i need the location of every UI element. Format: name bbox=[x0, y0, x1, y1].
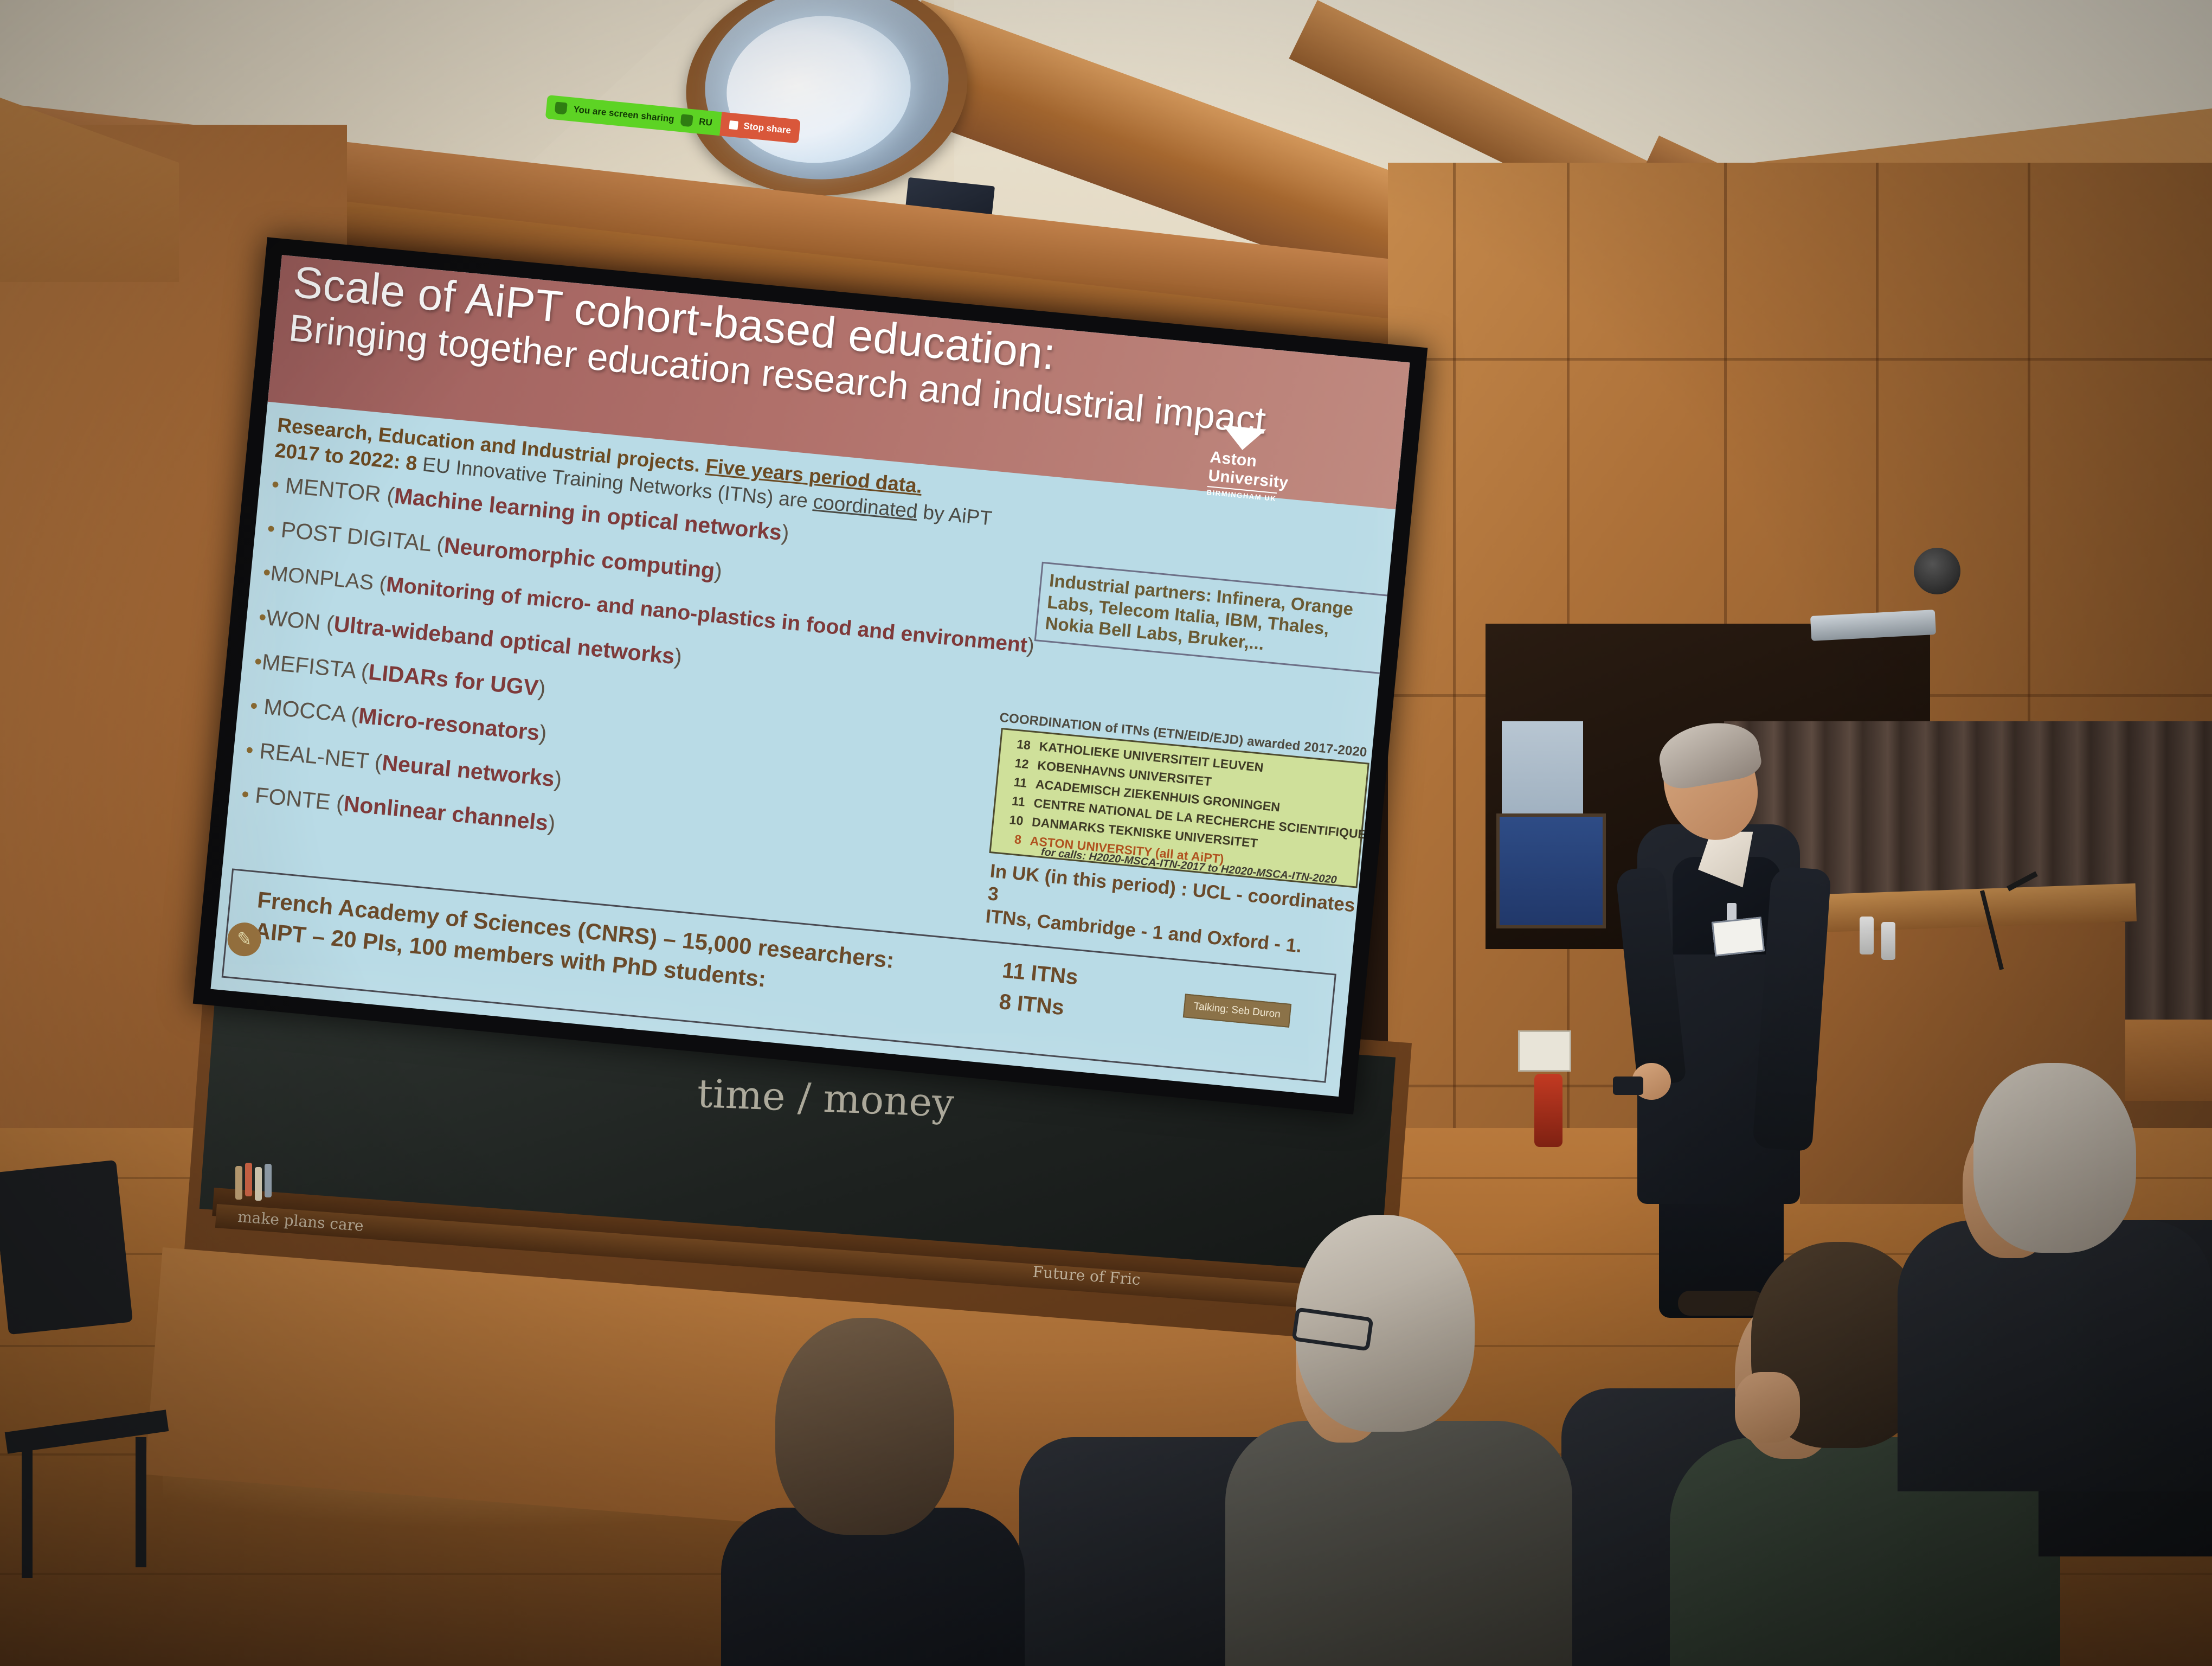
aston-logo: Aston University BIRMINGHAM UK bbox=[1206, 425, 1338, 509]
wall-speaker-icon bbox=[1914, 548, 1960, 594]
bullet-acronym: FONTE bbox=[254, 783, 332, 815]
bullet-desc: Neural networks bbox=[381, 750, 556, 791]
presenter-shoes bbox=[1678, 1291, 1765, 1316]
coord-count: 10 bbox=[998, 809, 1024, 830]
bullet-dot-icon: • bbox=[266, 517, 276, 541]
coord-count: 12 bbox=[1003, 753, 1030, 774]
badge-clip bbox=[1727, 903, 1737, 921]
coord-count: 11 bbox=[1001, 772, 1028, 793]
chalk-holder bbox=[233, 1166, 276, 1204]
fire-sign bbox=[1518, 1030, 1571, 1072]
presentation-clicker[interactable] bbox=[1613, 1077, 1643, 1095]
bullet-desc: LIDARs for UGV bbox=[368, 659, 539, 701]
triangle-logo-icon bbox=[1221, 425, 1266, 452]
stop-square-icon bbox=[729, 120, 738, 130]
presenter-name-badge bbox=[1712, 917, 1765, 956]
stop-share-label: Stop share bbox=[743, 121, 791, 136]
coord-count: 18 bbox=[1005, 734, 1031, 755]
shield-icon bbox=[555, 102, 568, 115]
bullet-desc: Micro-resonators bbox=[357, 703, 541, 746]
coord-count: 11 bbox=[999, 790, 1026, 811]
industrial-partners-box: Industrial partners: Infinera, Orange La… bbox=[1034, 562, 1390, 674]
audience-member-head bbox=[1973, 1063, 2136, 1253]
blue-notice-board bbox=[1496, 813, 1606, 928]
summary-right: 11 ITNs 8 ITNs bbox=[998, 954, 1144, 1030]
bullet-acronym: POST DIGITAL bbox=[280, 517, 432, 556]
presentation-slide: Scale of AiPT cohort-based education: Br… bbox=[210, 255, 1410, 1097]
bullet-desc: Neuromorphic computing bbox=[443, 533, 716, 583]
audience-member-head bbox=[775, 1318, 954, 1535]
bullet-desc: Nonlinear channels bbox=[343, 791, 549, 836]
fire-extinguisher bbox=[1534, 1074, 1562, 1147]
bullet-acronym: WON bbox=[265, 605, 321, 635]
water-bottle bbox=[1860, 917, 1874, 954]
bullet-dot-icon: • bbox=[240, 783, 250, 807]
bullet-acronym: REAL-NET bbox=[259, 739, 370, 774]
audience-member-body bbox=[1898, 1220, 2212, 1491]
screen-sharing-label: You are screen sharing bbox=[573, 104, 675, 125]
coord-count: 8 bbox=[996, 828, 1023, 849]
intro-line2-tail: by AiPT bbox=[917, 501, 993, 530]
water-bottle bbox=[1881, 922, 1895, 960]
bullet-dot-icon: • bbox=[249, 694, 259, 719]
project-bullet-list: • MENTOR (Machine learning in optical ne… bbox=[239, 472, 986, 894]
security-shield-icon[interactable] bbox=[680, 114, 693, 127]
bullet-acronym: MOCCA bbox=[262, 694, 346, 727]
bullet-acronym: MEFISTA bbox=[261, 649, 356, 683]
language-label[interactable]: RU bbox=[698, 117, 712, 129]
lecture-hall-photo: time / money make plans care Future of F… bbox=[0, 0, 2212, 1666]
audience-member-body bbox=[1225, 1421, 1572, 1666]
bullet-desc: Ultra-wideband optical networks bbox=[333, 611, 676, 669]
audience-member-hand bbox=[1735, 1372, 1800, 1443]
chalk-text-time-money: time / money bbox=[696, 1071, 955, 1126]
bullet-acronym: MENTOR bbox=[284, 473, 382, 507]
empty-chair bbox=[0, 1166, 179, 1578]
bullet-dot-icon: • bbox=[245, 738, 254, 762]
bullet-acronym: MONPLAS bbox=[269, 562, 375, 595]
projection-screen: Scale of AiPT cohort-based education: Br… bbox=[210, 255, 1410, 1097]
bullet-dot-icon: • bbox=[271, 472, 280, 497]
